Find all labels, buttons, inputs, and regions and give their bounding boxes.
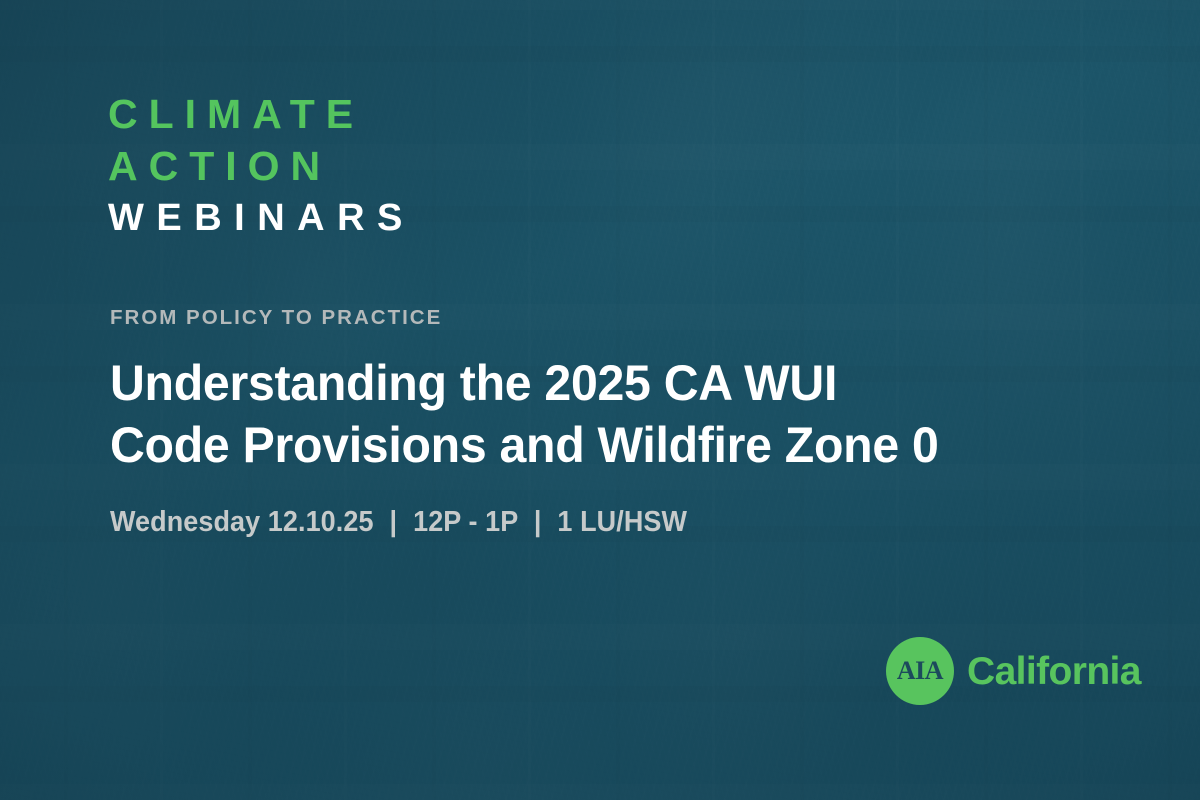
eyebrow-text: FROM POLICY TO PRACTICE	[110, 306, 1120, 330]
climate-action-webinars-logo: CLIMATE ACTION WEBINARS	[108, 94, 415, 237]
meta-separator-2: |	[525, 506, 549, 539]
aia-wordmark: California	[967, 652, 1141, 691]
event-time: 12P - 1P	[413, 506, 518, 538]
title-line-1: Understanding the 2025 CA WUI	[110, 352, 1085, 414]
title-line-2: Code Provisions and Wildfire Zone 0	[110, 414, 1085, 476]
page-title: Understanding the 2025 CA WUI Code Provi…	[110, 352, 1085, 476]
brand-line-action: ACTION	[108, 146, 415, 187]
brand-line-webinars: WEBINARS	[108, 199, 415, 237]
brand-line-climate: CLIMATE	[108, 94, 415, 135]
meta-separator-1: |	[381, 506, 405, 539]
event-date: Wednesday 12.10.25	[110, 506, 374, 538]
event-credits: 1 LU/HSW	[557, 506, 687, 538]
webinar-promo-graphic: CLIMATE ACTION WEBINARS FROM POLICY TO P…	[0, 0, 1200, 800]
headline-block: FROM POLICY TO PRACTICE Understanding th…	[110, 306, 1120, 539]
event-meta: Wednesday 12.10.25 | 12P - 1P | 1 LU/HSW	[110, 506, 1049, 539]
content-layer: CLIMATE ACTION WEBINARS FROM POLICY TO P…	[0, 0, 1200, 800]
aia-circle-icon: AIA	[886, 637, 954, 705]
aia-california-logo: AIA California	[886, 637, 1141, 705]
aia-monogram: AIA	[897, 658, 943, 684]
